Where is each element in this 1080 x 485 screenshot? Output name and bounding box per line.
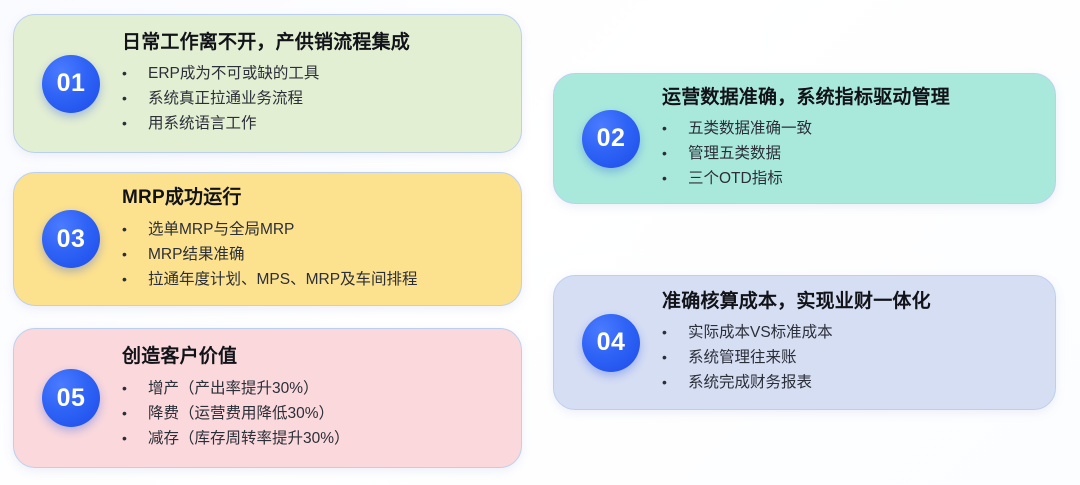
bullet-text: ERP成为不可或缺的工具	[148, 61, 507, 86]
card-bullet-list: •选单MRP与全局MRP•MRP结果准确•拉通年度计划、MPS、MRP及车间排程	[122, 217, 507, 292]
card-bullet-list: •增产（产出率提升30%）•降费（运营费用降低30%）•减存（库存周转率提升30…	[122, 376, 507, 451]
bullet-item: •拉通年度计划、MPS、MRP及车间排程	[122, 267, 507, 292]
bullet-item: •用系统语言工作	[122, 111, 507, 136]
card-05[interactable]: 05创造客户价值•增产（产出率提升30%）•降费（运营费用降低30%）•减存（库…	[13, 328, 522, 468]
card-01[interactable]: 01日常工作离不开，产供销流程集成•ERP成为不可或缺的工具•系统真正拉通业务流…	[13, 14, 522, 153]
step-badge-02: 02	[582, 110, 640, 168]
step-badge-03: 03	[42, 210, 100, 268]
step-badge-05: 05	[42, 369, 100, 427]
bullet-text: 用系统语言工作	[148, 111, 507, 136]
bullet-dot-icon: •	[122, 401, 148, 426]
bullet-dot-icon: •	[122, 61, 148, 86]
card-body: 准确核算成本，实现业财一体化•实际成本VS标准成本•系统管理往来账•系统完成财务…	[662, 276, 1041, 409]
bullet-text: 系统真正拉通业务流程	[148, 86, 507, 111]
step-number: 05	[57, 386, 86, 411]
bullet-dot-icon: •	[662, 166, 688, 191]
bullet-dot-icon: •	[122, 426, 148, 451]
bullet-item: •MRP结果准确	[122, 242, 507, 267]
card-bullet-list: •ERP成为不可或缺的工具•系统真正拉通业务流程•用系统语言工作	[122, 61, 507, 136]
bullet-text: 系统完成财务报表	[688, 370, 1041, 395]
bullet-item: •实际成本VS标准成本	[662, 320, 1041, 345]
bullet-dot-icon: •	[662, 116, 688, 141]
bullet-item: •系统真正拉通业务流程	[122, 86, 507, 111]
bullet-text: 拉通年度计划、MPS、MRP及车间排程	[148, 267, 507, 292]
step-badge-01: 01	[42, 55, 100, 113]
bullet-item: •系统完成财务报表	[662, 370, 1041, 395]
card-body: 创造客户价值•增产（产出率提升30%）•降费（运营费用降低30%）•减存（库存周…	[122, 329, 507, 467]
bullet-item: •管理五类数据	[662, 141, 1041, 166]
bullet-text: 选单MRP与全局MRP	[148, 217, 507, 242]
card-bullet-list: •五类数据准确一致•管理五类数据•三个OTD指标	[662, 116, 1041, 191]
bullet-item: •减存（库存周转率提升30%）	[122, 426, 507, 451]
bullet-dot-icon: •	[122, 86, 148, 111]
card-title: 准确核算成本，实现业财一体化	[662, 290, 1041, 314]
bullet-text: 五类数据准确一致	[688, 116, 1041, 141]
infographic-canvas: 01日常工作离不开，产供销流程集成•ERP成为不可或缺的工具•系统真正拉通业务流…	[0, 0, 1080, 485]
bullet-dot-icon: •	[122, 111, 148, 136]
bullet-text: 降费（运营费用降低30%）	[148, 401, 507, 426]
step-badge-04: 04	[582, 314, 640, 372]
card-title: 运营数据准确，系统指标驱动管理	[662, 86, 1041, 110]
bullet-text: MRP结果准确	[148, 242, 507, 267]
bullet-dot-icon: •	[662, 141, 688, 166]
bullet-item: •增产（产出率提升30%）	[122, 376, 507, 401]
bullet-item: •ERP成为不可或缺的工具	[122, 61, 507, 86]
card-03[interactable]: 03MRP成功运行•选单MRP与全局MRP•MRP结果准确•拉通年度计划、MPS…	[13, 172, 522, 306]
bullet-dot-icon: •	[662, 345, 688, 370]
step-number: 02	[597, 126, 626, 151]
step-number: 01	[57, 71, 86, 96]
card-02[interactable]: 02运营数据准确，系统指标驱动管理•五类数据准确一致•管理五类数据•三个OTD指…	[553, 73, 1056, 204]
card-title: MRP成功运行	[122, 186, 507, 210]
bullet-dot-icon: •	[662, 370, 688, 395]
bullet-item: •系统管理往来账	[662, 345, 1041, 370]
bullet-dot-icon: •	[122, 242, 148, 267]
bullet-item: •三个OTD指标	[662, 166, 1041, 191]
card-body: MRP成功运行•选单MRP与全局MRP•MRP结果准确•拉通年度计划、MPS、M…	[122, 173, 507, 305]
bullet-text: 三个OTD指标	[688, 166, 1041, 191]
bullet-text: 减存（库存周转率提升30%）	[148, 426, 507, 451]
bullet-text: 管理五类数据	[688, 141, 1041, 166]
card-bullet-list: •实际成本VS标准成本•系统管理往来账•系统完成财务报表	[662, 320, 1041, 395]
bullet-item: •降费（运营费用降低30%）	[122, 401, 507, 426]
bullet-dot-icon: •	[122, 217, 148, 242]
card-04[interactable]: 04准确核算成本，实现业财一体化•实际成本VS标准成本•系统管理往来账•系统完成…	[553, 275, 1056, 410]
step-number: 03	[57, 227, 86, 252]
bullet-dot-icon: •	[122, 267, 148, 292]
card-body: 日常工作离不开，产供销流程集成•ERP成为不可或缺的工具•系统真正拉通业务流程•…	[122, 15, 507, 152]
step-number: 04	[597, 330, 626, 355]
bullet-text: 实际成本VS标准成本	[688, 320, 1041, 345]
card-title: 日常工作离不开，产供销流程集成	[122, 31, 507, 55]
bullet-text: 增产（产出率提升30%）	[148, 376, 507, 401]
bullet-item: •五类数据准确一致	[662, 116, 1041, 141]
card-title: 创造客户价值	[122, 345, 507, 369]
bullet-item: •选单MRP与全局MRP	[122, 217, 507, 242]
bullet-dot-icon: •	[122, 376, 148, 401]
bullet-text: 系统管理往来账	[688, 345, 1041, 370]
card-body: 运营数据准确，系统指标驱动管理•五类数据准确一致•管理五类数据•三个OTD指标	[662, 74, 1041, 203]
bullet-dot-icon: •	[662, 320, 688, 345]
